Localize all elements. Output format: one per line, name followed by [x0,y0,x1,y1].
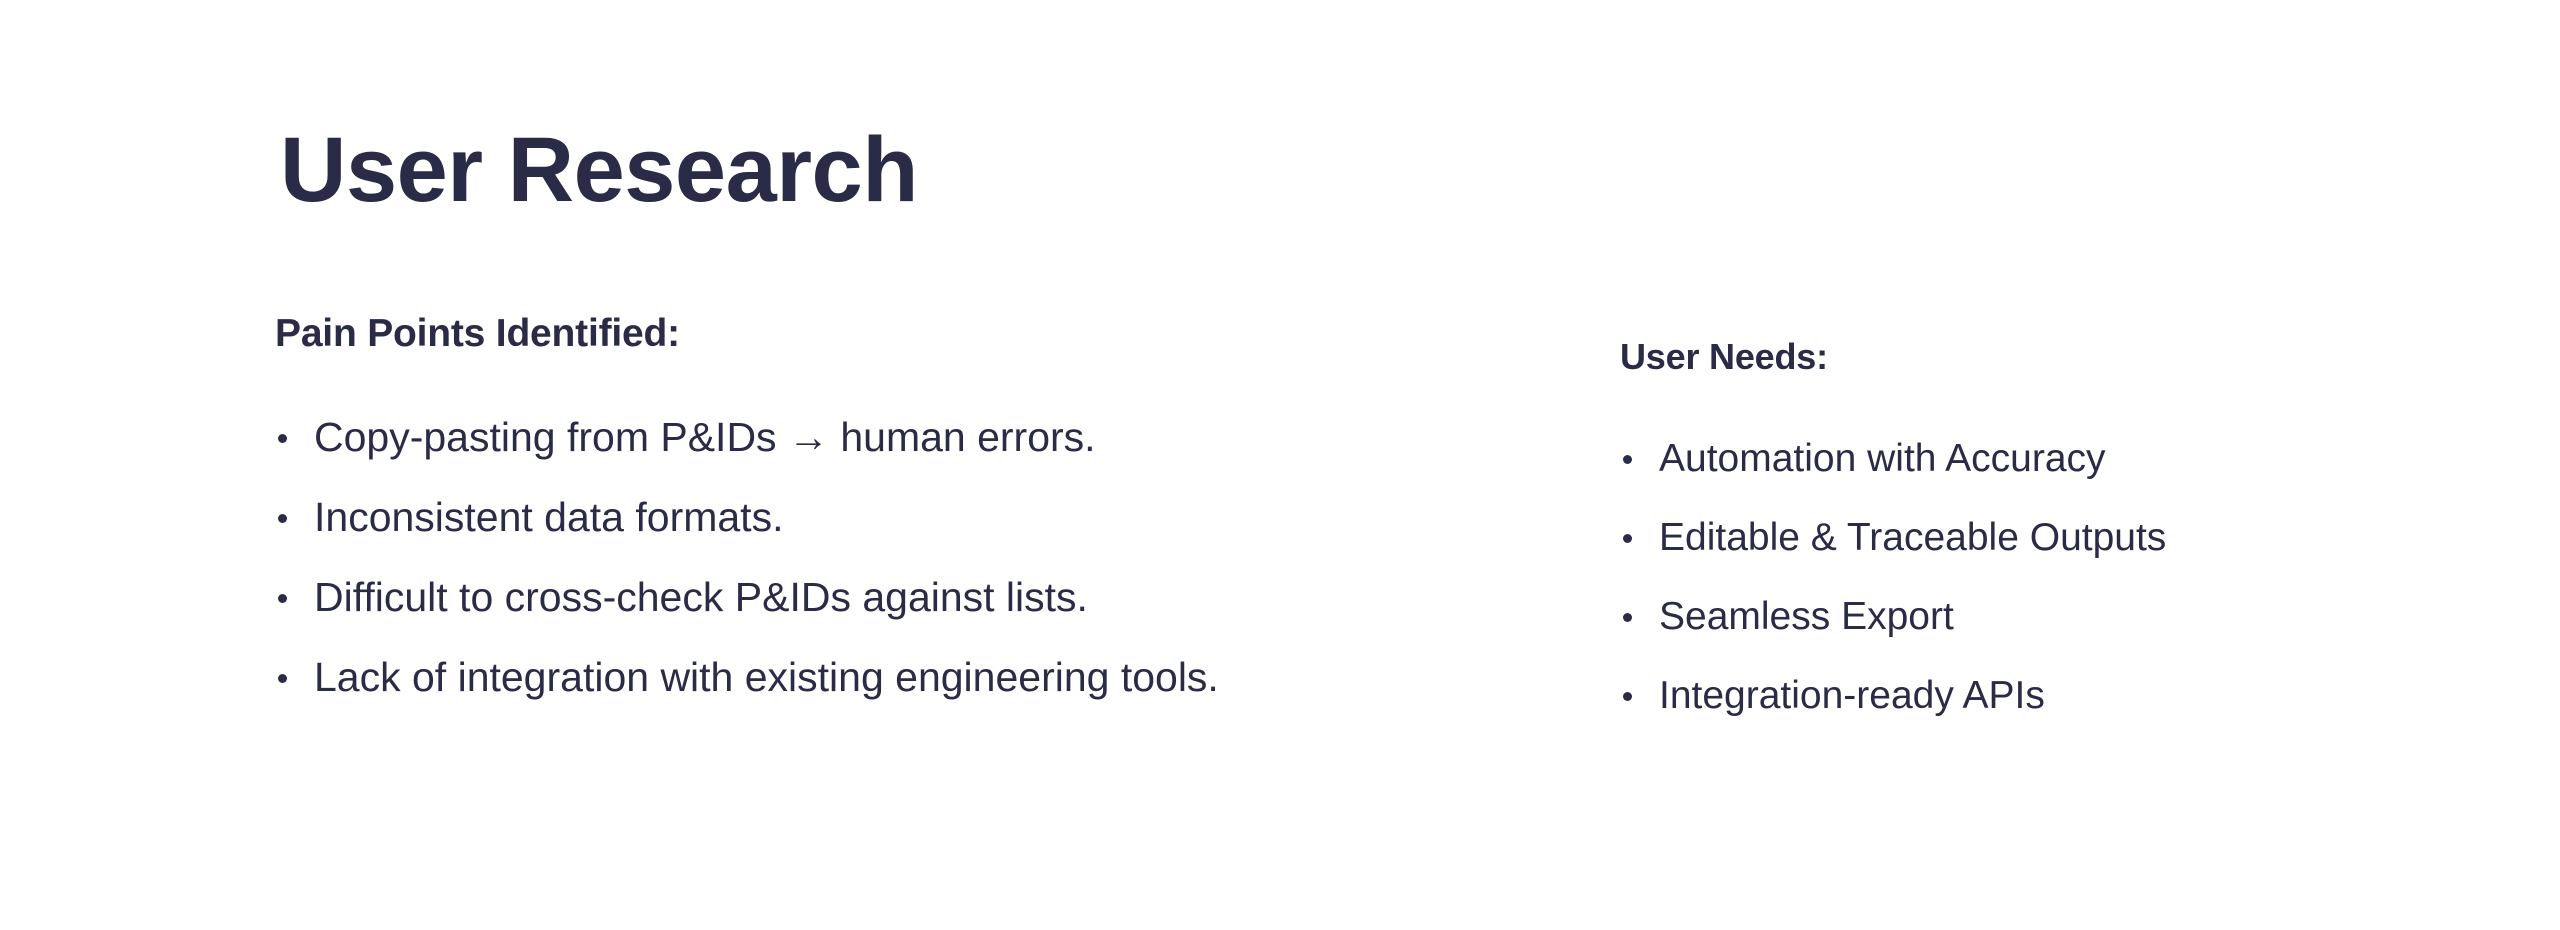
list-item-label: Automation with Accuracy [1659,419,2440,498]
bullet-dot-icon [278,434,287,443]
list-item: Editable & Traceable Outputs [1620,498,2440,577]
list-item: Inconsistent data formats. [275,477,1335,557]
list-item: Difficult to cross-check P&IDs against l… [275,557,1335,637]
user-needs-heading: User Needs: [1620,336,2440,377]
pain-points-column: Pain Points Identified: Copy-pasting fro… [275,312,1335,717]
list-item-label: Difficult to cross-check P&IDs against l… [314,557,1335,637]
list-item: Lack of integration with existing engine… [275,637,1335,717]
bullet-dot-icon [278,514,287,523]
list-item: Integration-ready APIs [1620,656,2440,735]
pain-points-heading: Pain Points Identified: [275,312,1335,357]
list-item-label: Inconsistent data formats. [314,477,1335,557]
slide-canvas: User Research Pain Points Identified: Co… [0,0,2560,930]
list-item-label: Editable & Traceable Outputs [1659,498,2440,577]
bullet-dot-icon [1623,455,1632,464]
user-needs-column: User Needs: Automation with Accuracy Edi… [1620,336,2440,735]
user-needs-list: Automation with Accuracy Editable & Trac… [1620,419,2440,735]
bullet-dot-icon [278,674,287,683]
bullet-dot-icon [1623,692,1632,701]
bullet-dot-icon [1623,534,1632,543]
list-item-label: Seamless Export [1659,577,2440,656]
page-title: User Research [280,124,918,216]
list-item: Seamless Export [1620,577,2440,656]
list-item-label: Copy-pasting from P&IDs → human errors. [314,397,1335,477]
list-item: Copy-pasting from P&IDs → human errors. [275,397,1335,477]
bullet-dot-icon [1623,613,1632,622]
pain-points-list: Copy-pasting from P&IDs → human errors. … [275,397,1335,717]
list-item-label: Lack of integration with existing engine… [314,637,1335,717]
list-item: Automation with Accuracy [1620,419,2440,498]
bullet-dot-icon [278,594,287,603]
list-item-label: Integration-ready APIs [1659,656,2440,735]
